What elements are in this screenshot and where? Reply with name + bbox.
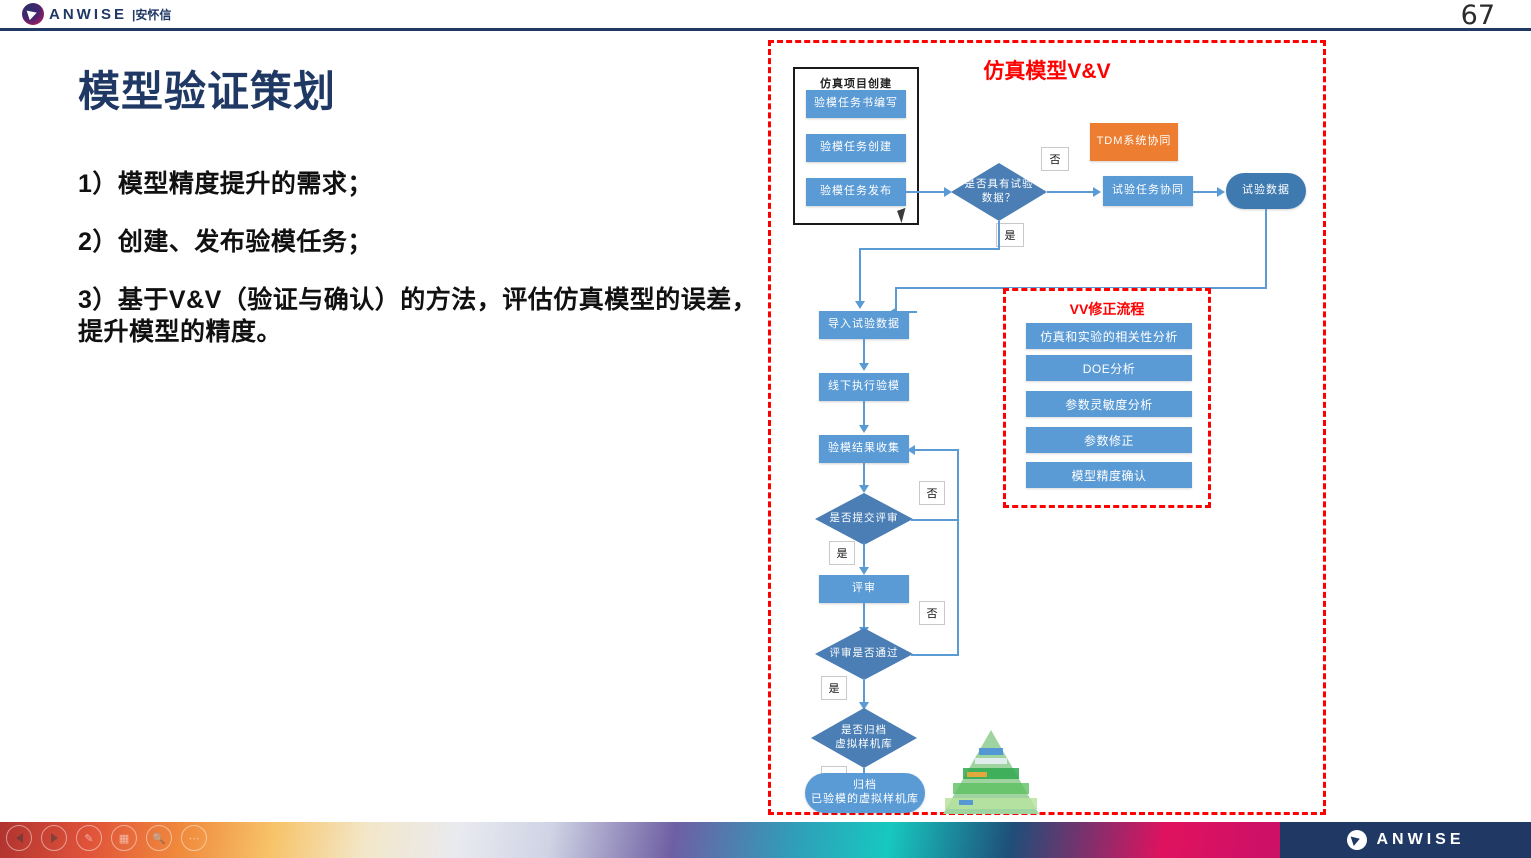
bullet-list: 1）模型精度提升的需求； 2）创建、发布验模任务； 3）基于V&V（验证与确认）… [78, 168, 758, 348]
footer-brand-name: ANWISE [1377, 831, 1465, 849]
anwise-logo-icon [1347, 830, 1367, 850]
decision-has-test-data[interactable]: 是否具有试验数据？ [951, 163, 1047, 221]
node-verify-task-create[interactable]: 验模任务创建 [806, 134, 906, 162]
connector-line [998, 221, 1000, 249]
connector-arrow [859, 363, 869, 371]
connector-arrow [859, 425, 869, 433]
label-yes: 是 [829, 541, 855, 565]
label-no: 否 [1041, 147, 1069, 171]
header-logo: ANWISE |安怀信 [22, 3, 171, 25]
connector-line [1193, 191, 1219, 193]
decision-label: 是否具有试验数据？ [965, 178, 1034, 205]
node-test-data[interactable]: 试验数据 [1226, 173, 1306, 209]
connector-arrow [859, 567, 869, 575]
connector-line [911, 654, 959, 656]
vv-item-accuracy-confirm[interactable]: 模型精度确认 [1026, 462, 1192, 488]
vv-panel-title: VV修正流程 [1006, 299, 1208, 319]
bullet-item: 2）创建、发布验模任务； [78, 226, 758, 258]
connector-arrow [855, 301, 865, 309]
vv-item-sensitivity[interactable]: 参数灵敏度分析 [1026, 391, 1192, 417]
decision-submit-review[interactable]: 是否提交评审 [815, 493, 913, 545]
connector-line [859, 248, 1000, 250]
node-tdm-collab[interactable]: TDM系统协同 [1090, 123, 1178, 161]
connector-line [859, 248, 861, 303]
page-number: 67 [1461, 0, 1495, 31]
header-divider [0, 28, 1531, 31]
node-test-task-collab[interactable]: 试验任务协同 [1103, 176, 1193, 206]
more-options-icon[interactable]: ⋯ [181, 825, 207, 851]
footer-brand: ANWISE [1280, 822, 1531, 858]
label-no: 否 [919, 601, 945, 625]
connector-line [911, 519, 959, 521]
connector-arrow [907, 445, 915, 455]
brand-name: ANWISE [49, 6, 127, 23]
next-slide-icon[interactable] [41, 825, 67, 851]
vv-item-param-correction[interactable]: 参数修正 [1026, 427, 1192, 453]
all-slides-icon[interactable]: ▦ [111, 825, 137, 851]
decision-archive[interactable]: 是否归档虚拟样机库 [811, 708, 917, 768]
decision-review-pass[interactable]: 评审是否通过 [815, 628, 913, 680]
label-no: 否 [919, 481, 945, 505]
group-label: 仿真项目创建 [795, 75, 917, 91]
label-yes: 是 [996, 223, 1024, 247]
connector-line [915, 449, 959, 451]
vv-flowchart-panel: 仿真模型V&V 仿真项目创建 验模任务书编写 验模任务创建 验模任务发布 是否具… [768, 40, 1326, 815]
pyramid-graphic [941, 728, 1041, 816]
archive-label-line1: 归档 [853, 779, 877, 793]
connector-arrow [859, 485, 869, 493]
brand-name-cn: |安怀信 [132, 6, 171, 23]
presentation-taskbar: ✎ ▦ 🔍 ⋯ ANWISE [0, 822, 1531, 858]
slide-header: ANWISE |安怀信 67 [0, 0, 1531, 30]
node-review[interactable]: 评审 [819, 575, 909, 603]
pen-icon[interactable]: ✎ [76, 825, 102, 851]
connector-line [1047, 191, 1095, 193]
label-yes: 是 [821, 676, 847, 700]
anwise-logo-icon [22, 3, 44, 25]
vv-item-doe[interactable]: DOE分析 [1026, 355, 1192, 381]
bullet-item: 1）模型精度提升的需求； [78, 168, 758, 200]
node-import-test-data[interactable]: 导入试验数据 [819, 311, 909, 339]
archive-label-line2: 已验模的虚拟样机库 [811, 793, 919, 807]
zoom-icon[interactable]: 🔍 [146, 825, 172, 851]
connector-arrow [1217, 187, 1225, 197]
connector-line [906, 191, 946, 193]
connector-line [1265, 209, 1267, 289]
node-verify-task-publish[interactable]: 验模任务发布 [806, 178, 906, 206]
decision-label: 是否归档虚拟样机库 [835, 724, 893, 751]
slideshow-controls: ✎ ▦ 🔍 ⋯ [6, 825, 207, 851]
vv-item-correlation[interactable]: 仿真和实验的相关性分析 [1026, 323, 1192, 349]
vv-correction-panel: VV修正流程 仿真和实验的相关性分析 DOE分析 参数灵敏度分析 参数修正 模型… [1003, 288, 1211, 508]
node-offline-verify[interactable]: 线下执行验模 [819, 373, 909, 401]
bullet-item: 3）基于V&V（验证与确认）的方法，评估仿真模型的误差，提升模型的精度。 [78, 284, 758, 348]
connector-arrow [944, 187, 952, 197]
connector-arrow [1093, 187, 1101, 197]
slide-canvas: ANWISE |安怀信 67 模型验证策划 1）模型精度提升的需求； 2）创建、… [0, 0, 1531, 858]
node-verify-task-doc[interactable]: 验模任务书编写 [806, 90, 906, 118]
node-collect-results[interactable]: 验模结果收集 [819, 435, 909, 463]
node-archive[interactable]: 归档 已验模的虚拟样机库 [805, 773, 925, 813]
connector-line [957, 449, 959, 655]
page-title: 模型验证策划 [78, 58, 336, 119]
prev-slide-icon[interactable] [6, 825, 32, 851]
